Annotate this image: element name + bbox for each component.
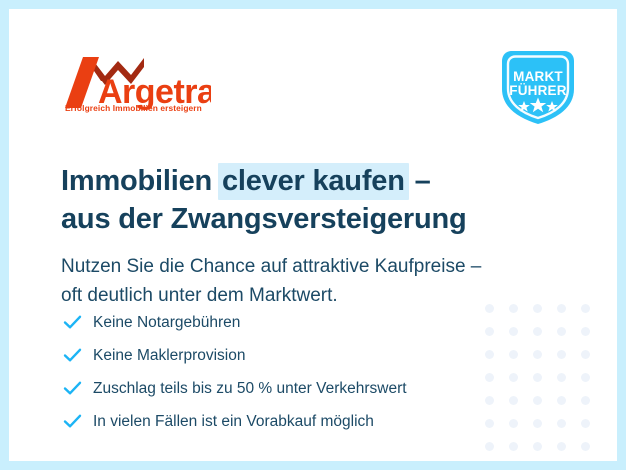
decoration-dot — [533, 396, 542, 405]
subheadline-line-2: oft deutlich unter dem Marktwert. — [61, 285, 338, 306]
decoration-dot — [509, 442, 518, 451]
decoration-dot — [581, 442, 590, 451]
decoration-dot — [557, 396, 566, 405]
promo-banner-frame: Argetra Erfolgreich Immobilien ersteiger… — [0, 0, 626, 470]
decoration-dot — [557, 442, 566, 451]
decoration-dot — [533, 373, 542, 382]
benefit-list: Keine Notargebühren Keine Maklerprovisio… — [63, 307, 533, 439]
decoration-dot — [557, 350, 566, 359]
benefit-label: In vielen Fällen ist ein Vorabkauf mögli… — [93, 412, 374, 432]
decoration-dot — [581, 396, 590, 405]
page-subheadline: Nutzen Sie die Chance auf attraktive Kau… — [61, 252, 561, 310]
benefit-label: Keine Notargebühren — [93, 313, 240, 333]
decoration-dot — [557, 327, 566, 336]
argetra-logo[interactable]: Argetra Erfolgreich Immobilien ersteiger… — [61, 51, 211, 113]
promo-banner-canvas: Argetra Erfolgreich Immobilien ersteiger… — [9, 9, 617, 461]
marktfuehrer-badge: MARKT FÜHRER — [496, 45, 580, 129]
headline-line-2: aus der Zwangsversteigerung — [61, 203, 467, 235]
headline-line-1: Immobilien clever kaufen – — [61, 165, 431, 197]
decoration-dot — [581, 327, 590, 336]
benefit-label: Keine Maklerprovision — [93, 346, 246, 366]
svg-text:FÜHRER: FÜHRER — [509, 83, 566, 98]
decoration-dot — [581, 419, 590, 428]
decoration-dot — [581, 304, 590, 313]
headline-highlight: clever kaufen — [218, 163, 409, 200]
decoration-dot — [557, 373, 566, 382]
page-headline: Immobilien clever kaufen – aus der Zwang… — [61, 162, 561, 238]
decoration-dot — [557, 419, 566, 428]
check-icon — [63, 381, 93, 396]
decoration-dot — [533, 350, 542, 359]
benefit-label: Zuschlag teils bis zu 50 % unter Verkehr… — [93, 379, 407, 399]
decoration-dot — [581, 350, 590, 359]
list-item: Keine Maklerprovision — [63, 340, 533, 371]
list-item: In vielen Fällen ist ein Vorabkauf mögli… — [63, 406, 533, 437]
list-item: Keine Notargebühren — [63, 307, 533, 338]
check-icon — [63, 348, 93, 363]
decoration-dot — [533, 419, 542, 428]
decoration-dot — [533, 327, 542, 336]
check-icon — [63, 315, 93, 330]
svg-text:Erfolgreich Immobilien ersteig: Erfolgreich Immobilien ersteigern — [65, 103, 202, 113]
list-item: Zuschlag teils bis zu 50 % unter Verkehr… — [63, 373, 533, 404]
headline-suffix: – — [407, 165, 431, 197]
decoration-dot — [581, 373, 590, 382]
headline-prefix: Immobilien — [61, 165, 220, 197]
svg-text:MARKT: MARKT — [513, 69, 563, 84]
subheadline-line-1: Nutzen Sie die Chance auf attraktive Kau… — [61, 256, 481, 277]
check-icon — [63, 414, 93, 429]
decoration-dot — [485, 442, 494, 451]
decoration-dot — [533, 442, 542, 451]
